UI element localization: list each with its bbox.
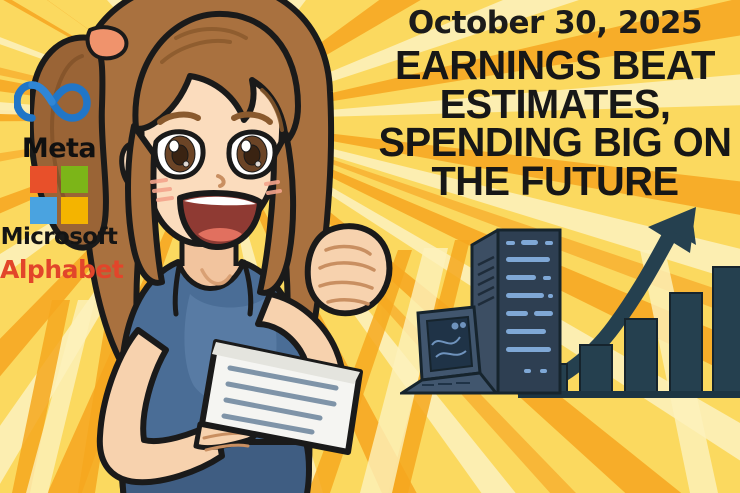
eye-right <box>229 132 275 177</box>
meta-label: Meta <box>0 135 118 162</box>
tech-scene-illustration <box>400 205 740 405</box>
meta-infinity-icon <box>14 78 104 130</box>
eye-left <box>155 132 203 177</box>
logo-item-meta: Meta <box>0 78 118 162</box>
logo-item-alphabet: Alphabet <box>0 257 118 282</box>
ms-square-yellow <box>61 197 88 224</box>
company-logo-stack: Meta Microsoft Alphabet <box>0 78 118 284</box>
server-rack-icon <box>472 230 560 393</box>
logo-item-microsoft: Microsoft <box>0 166 118 249</box>
alphabet-wordmark-icon: Alphabet <box>0 257 118 282</box>
ms-square-blue <box>30 197 57 224</box>
headline-line-3: SPENDING BIG ON <box>377 123 732 162</box>
microsoft-label: Microsoft <box>0 226 118 249</box>
headline-line-2: ESTIMATES, <box>377 85 732 124</box>
thumbnail-canvas: Meta Microsoft Alphabet October 30, 2025… <box>0 0 740 493</box>
ms-square-green <box>61 166 88 193</box>
raised-fist <box>308 226 390 313</box>
headline-line-4: THE FUTURE <box>377 162 732 201</box>
date-text: October 30, 2025 <box>372 6 738 40</box>
ms-square-red <box>30 166 57 193</box>
headline-line-1: EARNINGS BEAT <box>377 46 732 85</box>
headline-block: October 30, 2025 EARNINGS BEAT ESTIMATES… <box>372 6 738 200</box>
microsoft-squares-icon <box>30 166 88 224</box>
